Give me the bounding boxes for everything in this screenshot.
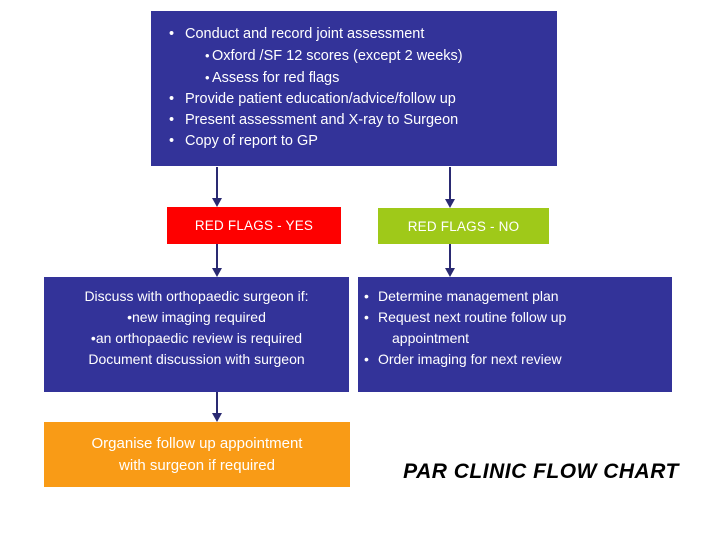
- management-line-1-text: Determine management plan: [378, 288, 559, 304]
- management-line-3: appointment: [370, 328, 664, 349]
- assessment-line-5: •Present assessment and X-ray to Surgeon: [161, 110, 549, 131]
- assessment-line-4: •Provide patient education/advice/follow…: [161, 89, 549, 110]
- discuss-line-4: Document discussion with surgeon: [50, 349, 343, 370]
- bullet-icon: •: [364, 307, 378, 328]
- arrow-head: [212, 198, 222, 207]
- assessment-line-4-text: Provide patient education/advice/follow …: [185, 91, 456, 107]
- discuss-line-2: •new imaging required: [50, 307, 343, 328]
- discuss-with-surgeon-box: Discuss with orthopaedic surgeon if: •ne…: [44, 277, 349, 392]
- bullet-icon: •: [169, 89, 185, 110]
- assessment-line-6: •Copy of report to GP: [161, 131, 549, 152]
- management-line-2-text: Request next routine follow up: [378, 309, 566, 325]
- arrow-head: [445, 268, 455, 277]
- arrow-red-flags-yes-to-discuss: [212, 244, 222, 277]
- arrow-shaft: [216, 244, 218, 268]
- management-line-4-text: Order imaging for next review: [378, 351, 562, 367]
- discuss-line-3: •an orthopaedic review is required: [50, 328, 343, 349]
- arrow-assessment-to-red-flags-yes: [212, 167, 222, 207]
- arrow-head: [212, 268, 222, 277]
- arrow-shaft: [216, 167, 218, 198]
- discuss-line-1: Discuss with orthopaedic surgeon if:: [50, 286, 343, 307]
- management-plan-box: •Determine management plan •Request next…: [358, 277, 672, 392]
- assessment-line-1: •Conduct and record joint assessment: [161, 24, 549, 45]
- arrow-head: [445, 199, 455, 208]
- arrow-red-flags-no-to-management: [445, 244, 455, 277]
- bullet-icon: •: [169, 24, 185, 45]
- arrow-shaft: [216, 392, 218, 413]
- assessment-line-2-text: Oxford /SF 12 scores (except 2 weeks): [212, 48, 463, 64]
- arrow-shaft: [449, 244, 451, 268]
- chart-title: PAR CLINIC FLOW CHART: [386, 460, 696, 484]
- bullet-icon: •: [205, 45, 212, 66]
- red-flags-no-box: RED FLAGS - NO: [378, 208, 549, 244]
- management-line-3-text: appointment: [392, 330, 469, 346]
- red-flags-yes-box: RED FLAGS - YES: [167, 207, 341, 244]
- assessment-line-5-text: Present assessment and X-ray to Surgeon: [185, 112, 458, 128]
- arrow-discuss-to-organise: [212, 392, 222, 422]
- organise-line-2: with surgeon if required: [119, 455, 275, 477]
- arrow-shaft: [449, 167, 451, 199]
- assessment-line-2: •Oxford /SF 12 scores (except 2 weeks): [161, 45, 549, 67]
- discuss-line-1-text: Discuss with orthopaedic surgeon if:: [84, 288, 308, 304]
- bullet-icon: •: [364, 349, 378, 370]
- organise-line-1: Organise follow up appointment: [92, 433, 303, 455]
- bullet-icon: •: [205, 67, 212, 88]
- assessment-line-3-text: Assess for red flags: [212, 70, 339, 86]
- bullet-icon: •: [364, 286, 378, 307]
- bullet-icon: •: [169, 131, 185, 152]
- organise-follow-up-box: Organise follow up appointment with surg…: [44, 422, 350, 487]
- management-line-4: •Order imaging for next review: [370, 349, 664, 370]
- arrow-head: [212, 413, 222, 422]
- bullet-icon: •: [169, 110, 185, 131]
- discuss-line-4-text: Document discussion with surgeon: [88, 351, 304, 367]
- assessment-line-6-text: Copy of report to GP: [185, 133, 318, 149]
- assessment-box: •Conduct and record joint assessment •Ox…: [151, 11, 557, 166]
- management-line-1: •Determine management plan: [370, 286, 664, 307]
- red-flags-yes-label: RED FLAGS - YES: [195, 218, 313, 233]
- management-line-2: •Request next routine follow up: [370, 307, 664, 328]
- discuss-line-3-text: an orthopaedic review is required: [96, 330, 302, 346]
- assessment-line-1-text: Conduct and record joint assessment: [185, 26, 424, 42]
- assessment-line-3: •Assess for red flags: [161, 67, 549, 89]
- red-flags-no-label: RED FLAGS - NO: [408, 219, 520, 234]
- arrow-assessment-to-red-flags-no: [445, 167, 455, 208]
- discuss-line-2-text: new imaging required: [132, 309, 266, 325]
